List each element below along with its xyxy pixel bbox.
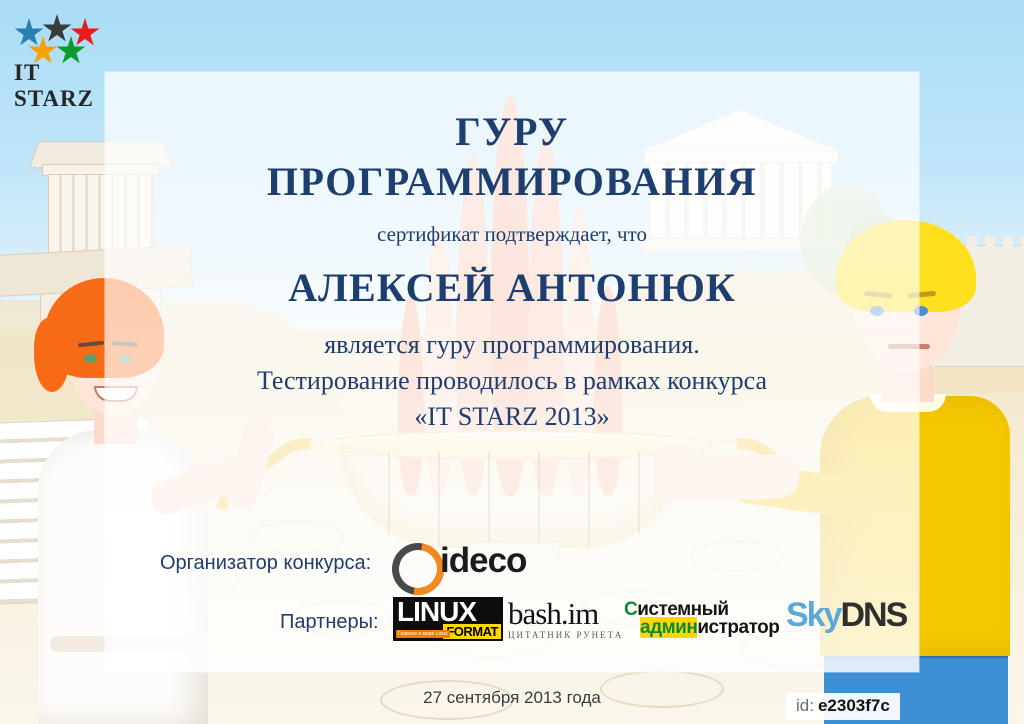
skydns-sky: Sky	[786, 596, 841, 634]
sysadmin-row2-b: истратор	[697, 617, 779, 638]
ideco-wordmark: ideco	[440, 541, 526, 581]
logo-wordmark: IT STARZ	[14, 60, 118, 112]
linux-format-main: LINUX	[397, 598, 476, 626]
star-blue-icon	[14, 18, 44, 48]
certificate-body-line3: «IT STARZ 2013»	[0, 402, 1024, 432]
linux-format-logo: LINUX FORMAT Главное в мире Linux	[393, 597, 503, 641]
skydns-logo: SkyDNS	[786, 596, 906, 635]
certificate-canvas: IT STARZ ГУРУ ПРОГРАММИРОВАНИЯ сертифика…	[0, 0, 1024, 724]
bash-im-logo: bash.im ЦИТАТНИК РУНЕТА	[508, 599, 628, 641]
id-badge: id:e2303f7c	[786, 693, 900, 720]
star-dark-icon	[42, 14, 72, 44]
sysadmin-magazine-logo: Системный администратор	[624, 600, 784, 642]
id-label: id:	[796, 696, 814, 715]
skydns-dns: DNS	[841, 596, 907, 634]
certificate-subtitle: сертификат подтверждает, что	[0, 222, 1024, 247]
linux-format-tagline: Главное в мире Linux	[396, 630, 450, 638]
it-starz-logo: IT STARZ	[14, 14, 114, 84]
star-red-icon	[70, 18, 100, 48]
certificate-body-line1: является гуру программирования.	[0, 330, 1024, 360]
id-value: e2303f7c	[818, 696, 890, 715]
partners-label: Партнеры:	[280, 611, 379, 634]
recipient-name: АЛЕКСЕЙ АНТОНЮК	[0, 264, 1024, 311]
certificate-title-line1: ГУРУ	[0, 108, 1024, 155]
organizer-label: Организатор конкурса:	[160, 552, 371, 575]
bash-im-tagline: ЦИТАТНИК РУНЕТА	[508, 630, 628, 640]
sysadmin-row1-a: С	[624, 599, 637, 620]
linux-format-sub: FORMAT	[443, 624, 501, 639]
ideco-logo: ideco	[392, 541, 552, 583]
bash-im-wordmark: bash.im	[508, 599, 628, 629]
certificate-title-line2: ПРОГРАММИРОВАНИЯ	[0, 158, 1024, 205]
certificate-body-line2: Тестирование проводилось в рамках конкур…	[0, 366, 1024, 396]
sysadmin-row2-a: админ	[640, 617, 697, 638]
